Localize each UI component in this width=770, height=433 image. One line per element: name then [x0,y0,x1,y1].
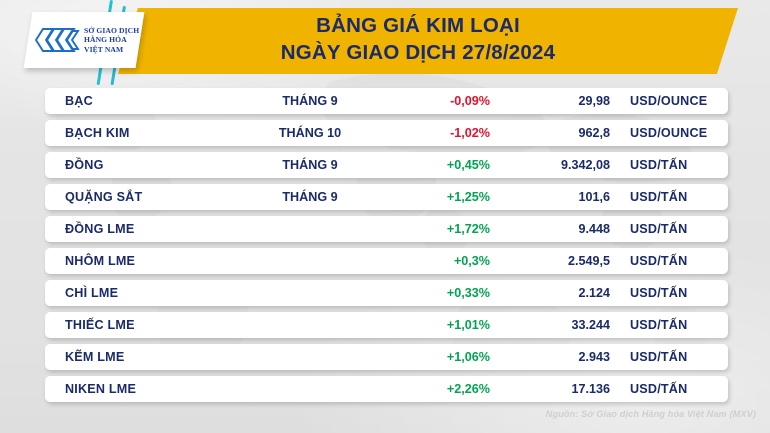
price-unit: USD/TẤN [630,286,687,300]
table-row[interactable]: ĐỒNGTHÁNG 9+0,45%9.342,08USD/TẤN [45,152,728,178]
contract-month: THÁNG 10 [245,126,375,140]
price-value: 2.943 [500,350,610,364]
logo-line-2: HÀNG HÓA [84,35,127,44]
price-value: 9.448 [500,222,610,236]
table-row[interactable]: CHÌ LME+0,33%2.124USD/TẤN [45,280,728,306]
price-value: 2.549,5 [500,254,610,268]
source-credit: Nguồn: Sở Giao dịch Hàng hóa Việt Nam (M… [546,409,756,419]
price-unit: USD/OUNCE [630,126,707,140]
table-row[interactable]: NIKEN LME+2,26%17.136USD/TẤN [45,376,728,402]
price-value: 17.136 [500,382,610,396]
change-percent: +0,45% [375,158,490,172]
price-board: BẢNG GIÁ KIM LOẠI NGÀY GIAO DỊCH 27/8/20… [0,0,770,433]
table-row[interactable]: BẠCTHÁNG 9-0,09%29,98USD/OUNCE [45,88,728,114]
page-title-line1: BẢNG GIÁ KIM LOẠI [118,12,718,39]
mxv-logo-icon [34,23,80,57]
commodity-name: ĐỒNG LME [65,222,134,236]
logo-line-1: SỞ GIAO DỊCH [84,26,139,35]
price-value: 2.124 [500,286,610,300]
table-row[interactable]: ĐỒNG LME+1,72%9.448USD/TẤN [45,216,728,242]
table-row[interactable]: THIẾC LME+1,01%33.244USD/TẤN [45,312,728,338]
change-percent: +1,72% [375,222,490,236]
price-unit: USD/TẤN [630,254,687,268]
change-percent: -0,09% [375,94,490,108]
table-row[interactable]: NHÔM LME+0,3%2.549,5USD/TẤN [45,248,728,274]
change-percent: -1,02% [375,126,490,140]
contract-month: THÁNG 9 [245,190,375,204]
header: BẢNG GIÁ KIM LOẠI NGÀY GIAO DỊCH 27/8/20… [0,0,770,82]
price-unit: USD/TẤN [630,382,687,396]
organization-name: SỞ GIAO DỊCH HÀNG HÓA VIỆT NAM [84,26,139,55]
price-unit: USD/TẤN [630,222,687,236]
table-row[interactable]: BẠCH KIMTHÁNG 10-1,02%962,8USD/OUNCE [45,120,728,146]
commodity-name: CHÌ LME [65,286,118,300]
change-percent: +2,26% [375,382,490,396]
logo-line-3: VIỆT NAM [84,45,123,54]
price-value: 33.244 [500,318,610,332]
price-unit: USD/OUNCE [630,94,707,108]
commodity-name: BẠC [65,94,93,108]
change-percent: +1,01% [375,318,490,332]
price-unit: USD/TẤN [630,158,687,172]
price-value: 9.342,08 [500,158,610,172]
price-value: 29,98 [500,94,610,108]
commodity-name: QUẶNG SẮT [65,190,142,204]
commodity-name: KẼM LME [65,350,124,364]
price-unit: USD/TẤN [630,318,687,332]
price-value: 962,8 [500,126,610,140]
commodity-name: NIKEN LME [65,382,136,396]
price-unit: USD/TẤN [630,190,687,204]
change-percent: +1,06% [375,350,490,364]
price-unit: USD/TẤN [630,350,687,364]
price-value: 101,6 [500,190,610,204]
table-row[interactable]: QUẶNG SẮTTHÁNG 9+1,25%101,6USD/TẤN [45,184,728,210]
commodity-name: BẠCH KIM [65,126,130,140]
page-title: BẢNG GIÁ KIM LOẠI NGÀY GIAO DỊCH 27/8/20… [118,12,718,66]
contract-month: THÁNG 9 [245,158,375,172]
change-percent: +0,33% [375,286,490,300]
page-title-line2: NGÀY GIAO DỊCH 27/8/2024 [118,39,718,66]
table-row[interactable]: KẼM LME+1,06%2.943USD/TẤN [45,344,728,370]
commodity-name: THIẾC LME [65,318,135,332]
change-percent: +1,25% [375,190,490,204]
contract-month: THÁNG 9 [245,94,375,108]
commodity-name: ĐỒNG [65,158,104,172]
organization-logo: SỞ GIAO DỊCH HÀNG HÓA VIỆT NAM [24,12,145,68]
commodity-name: NHÔM LME [65,254,135,268]
change-percent: +0,3% [375,254,490,268]
price-table: BẠCTHÁNG 9-0,09%29,98USD/OUNCEBẠCH KIMTH… [45,88,728,408]
